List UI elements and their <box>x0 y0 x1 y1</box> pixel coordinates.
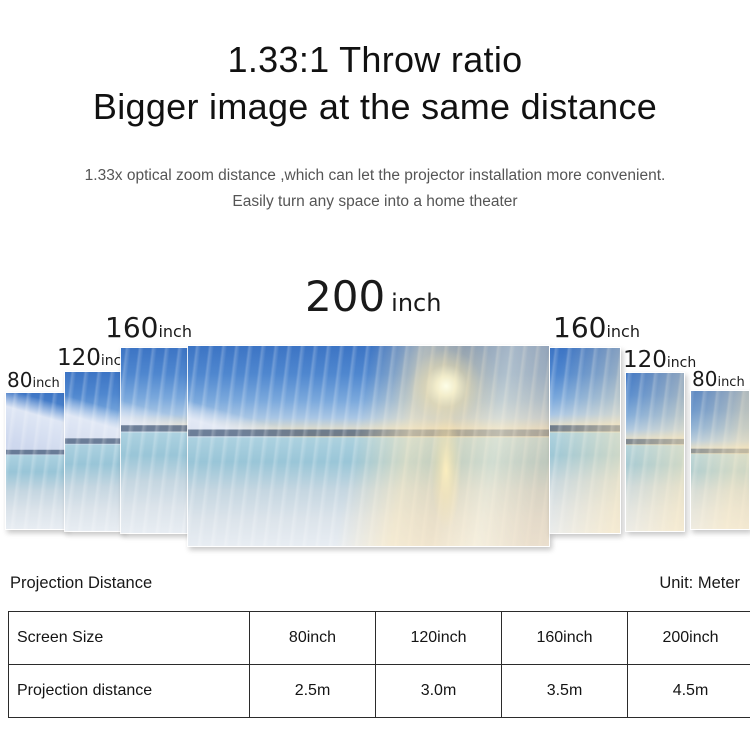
screen-panel-left-160inch <box>120 347 192 534</box>
table-cell-size-2: 160inch <box>502 612 628 665</box>
table-cell-row-label-screen-size: Screen Size <box>9 612 250 665</box>
table-cell-distance-3: 4.5m <box>628 665 750 718</box>
panorama-art <box>625 373 685 531</box>
table-cell-size-3: 200inch <box>628 612 750 665</box>
screen-label-right-80inch-unit: inch <box>717 375 744 390</box>
screen-size-comparison: 80inch 120inch 160inch 200inch 160inch <box>0 0 750 560</box>
projection-distance-table: Screen Size 80inch 120inch 160inch 200in… <box>8 611 750 718</box>
screen-label-left-160inch-number: 160 <box>105 311 158 344</box>
screen-label-left-120inch-number: 120 <box>57 345 101 371</box>
screen-label-left-160inch: 160inch <box>105 311 192 344</box>
screen-panel-center-200inch <box>187 345 550 547</box>
page-root: 1.33:1 Throw ratio Bigger image at the s… <box>0 0 750 750</box>
screen-panel-right-160inch <box>549 347 621 534</box>
screen-label-left-80inch-number: 80 <box>7 368 32 392</box>
screen-label-left-160inch-unit: inch <box>158 322 192 341</box>
screen-label-right-80inch-number: 80 <box>692 367 717 391</box>
screen-panel-right-120inch <box>625 372 685 532</box>
screen-label-center-200inch-number: 200 <box>305 272 385 321</box>
table-cell-row-label-projection-distance: Projection distance <box>9 665 250 718</box>
table-cell-distance-2: 3.5m <box>502 665 628 718</box>
screen-label-left-80inch: 80inch <box>7 368 60 392</box>
table-title: Projection Distance <box>10 574 152 593</box>
table-row-projection-distance: Projection distance 2.5m 3.0m 3.5m 4.5m <box>9 665 750 718</box>
screen-label-right-160inch-unit: inch <box>606 322 640 341</box>
screen-panel-right-80inch <box>690 390 750 530</box>
screen-panel-left-80inch <box>5 392 67 530</box>
panorama-art <box>690 391 750 529</box>
screen-label-right-160inch-number: 160 <box>553 311 606 344</box>
table-cell-distance-1: 3.0m <box>376 665 502 718</box>
panorama-art <box>188 346 549 546</box>
screen-panel-left-120inch <box>64 371 124 532</box>
table-header-bar: Projection Distance Unit: Meter <box>10 574 740 602</box>
screen-label-center-200inch: 200inch <box>305 272 441 321</box>
screen-label-right-160inch: 160inch <box>553 311 640 344</box>
screen-label-left-80inch-unit: inch <box>32 376 59 391</box>
table-cell-distance-0: 2.5m <box>250 665 376 718</box>
table-cell-size-1: 120inch <box>376 612 502 665</box>
table-unit-note: Unit: Meter <box>659 574 740 593</box>
screen-label-center-200inch-unit: inch <box>391 289 441 317</box>
panorama-art <box>6 393 67 529</box>
screen-label-right-80inch: 80inch <box>692 367 745 391</box>
screen-label-right-120inch-number: 120 <box>623 347 667 373</box>
screen-label-right-120inch: 120inch <box>623 347 696 373</box>
panorama-art <box>120 348 192 533</box>
table-cell-size-0: 80inch <box>250 612 376 665</box>
table-row-screen-size: Screen Size 80inch 120inch 160inch 200in… <box>9 612 750 665</box>
panorama-art <box>64 372 124 531</box>
panorama-art <box>549 348 621 533</box>
